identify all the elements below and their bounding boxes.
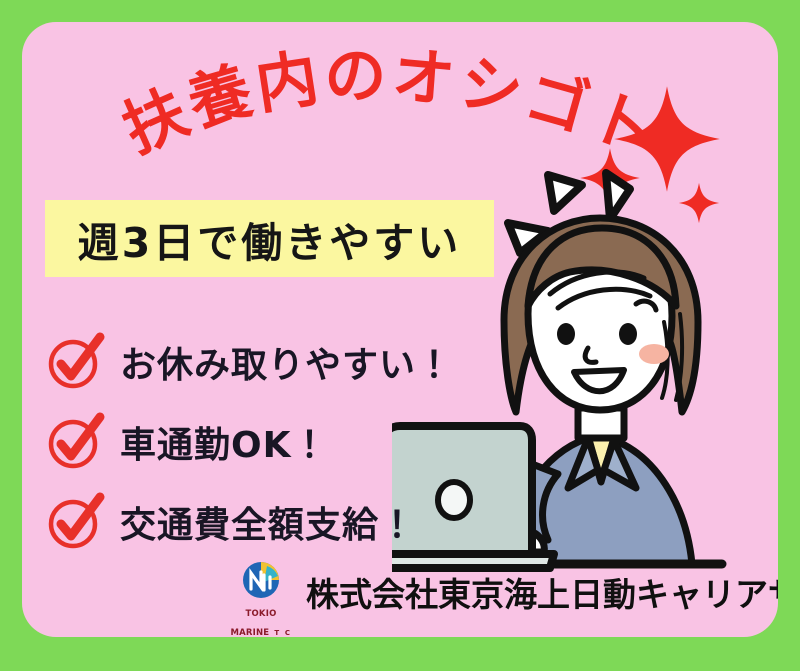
check-circle-icon	[46, 413, 104, 471]
benefits-list: お休み取りやすい！ 車通勤OK！ 交通費全額	[46, 322, 496, 562]
logo-wordmark: TOKIO MARINE	[230, 609, 276, 637]
list-item-label: 交通費全額支給！	[120, 496, 416, 548]
list-item: 車通勤OK！	[46, 402, 496, 482]
list-item: 交通費全額支給！	[46, 482, 496, 562]
job-ad-poster: 扶養内のオシゴト	[0, 0, 800, 671]
footer: TOKIO MARINE T C S 株式会社東京海上日動キャリアサービス	[22, 555, 778, 629]
check-circle-icon	[46, 333, 104, 391]
list-item: お休み取りやすい！	[46, 322, 496, 402]
list-item-label: 車通勤OK！	[120, 416, 329, 468]
company-name: 株式会社東京海上日動キャリアサービス	[306, 568, 778, 616]
tokio-marine-logo: TOKIO MARINE T C S	[228, 561, 294, 623]
list-item-label: お休み取りやすい！	[120, 336, 453, 388]
poster-panel: 扶養内のオシゴト	[22, 22, 778, 637]
check-circle-icon	[46, 493, 104, 551]
